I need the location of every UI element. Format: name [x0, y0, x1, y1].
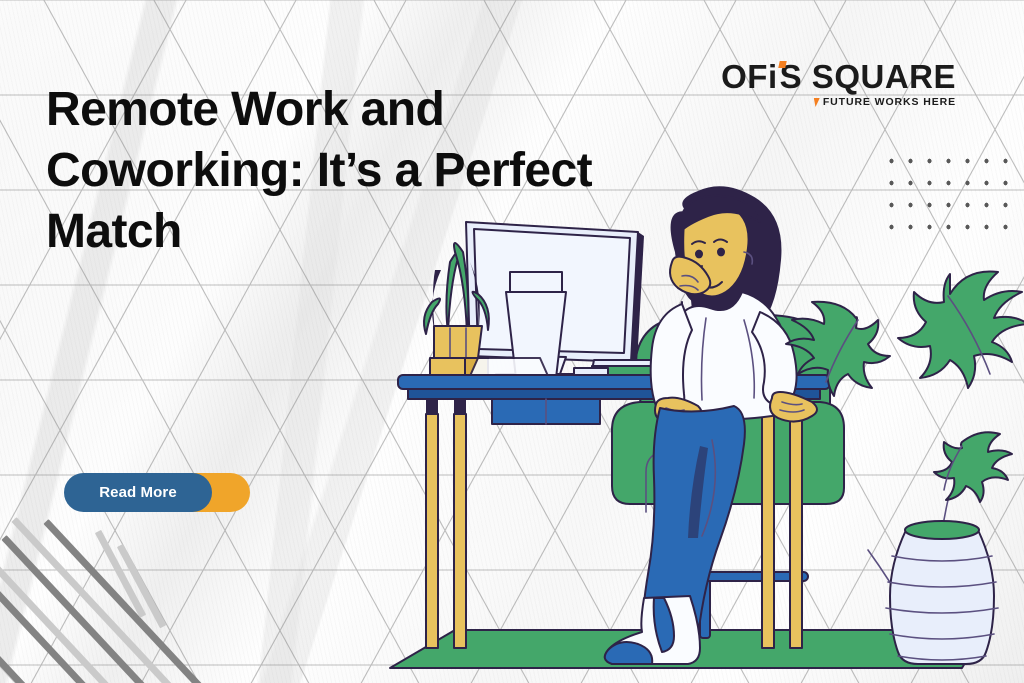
monstera-plant: [786, 271, 1024, 664]
read-more-button[interactable]: Read More: [64, 473, 212, 512]
office-chair: [612, 313, 844, 638]
read-more-cta[interactable]: Read More: [64, 473, 250, 512]
logo-text-of: OF: [721, 58, 768, 95]
snake-plant: [424, 243, 489, 376]
rug: [390, 630, 985, 668]
logo-tick-icon: [812, 98, 820, 107]
logo-accent-dot-icon: [778, 61, 786, 68]
brand-logo[interactable]: OFiS SQUARE FUTURE WORKS HERE: [721, 60, 956, 108]
logo-tagline: FUTURE WORKS HERE: [823, 96, 956, 108]
dot-grid-decoration: [882, 150, 1016, 246]
desk: [398, 375, 830, 648]
logo-text-square: SQUARE: [802, 58, 956, 95]
logo-wordmark: OFiS SQUARE: [721, 60, 956, 93]
logo-text-i: i: [768, 58, 778, 95]
diagonal-stripes-decoration: [0, 490, 270, 683]
blog-banner: .ln { stroke:#2e2348; stroke-width:2; fi…: [0, 0, 1024, 683]
desk-items: [470, 358, 662, 376]
page-title: Remote Work and Coworking: It’s a Perfec…: [46, 80, 666, 263]
logo-tagline-row: FUTURE WORKS HERE: [721, 96, 956, 108]
